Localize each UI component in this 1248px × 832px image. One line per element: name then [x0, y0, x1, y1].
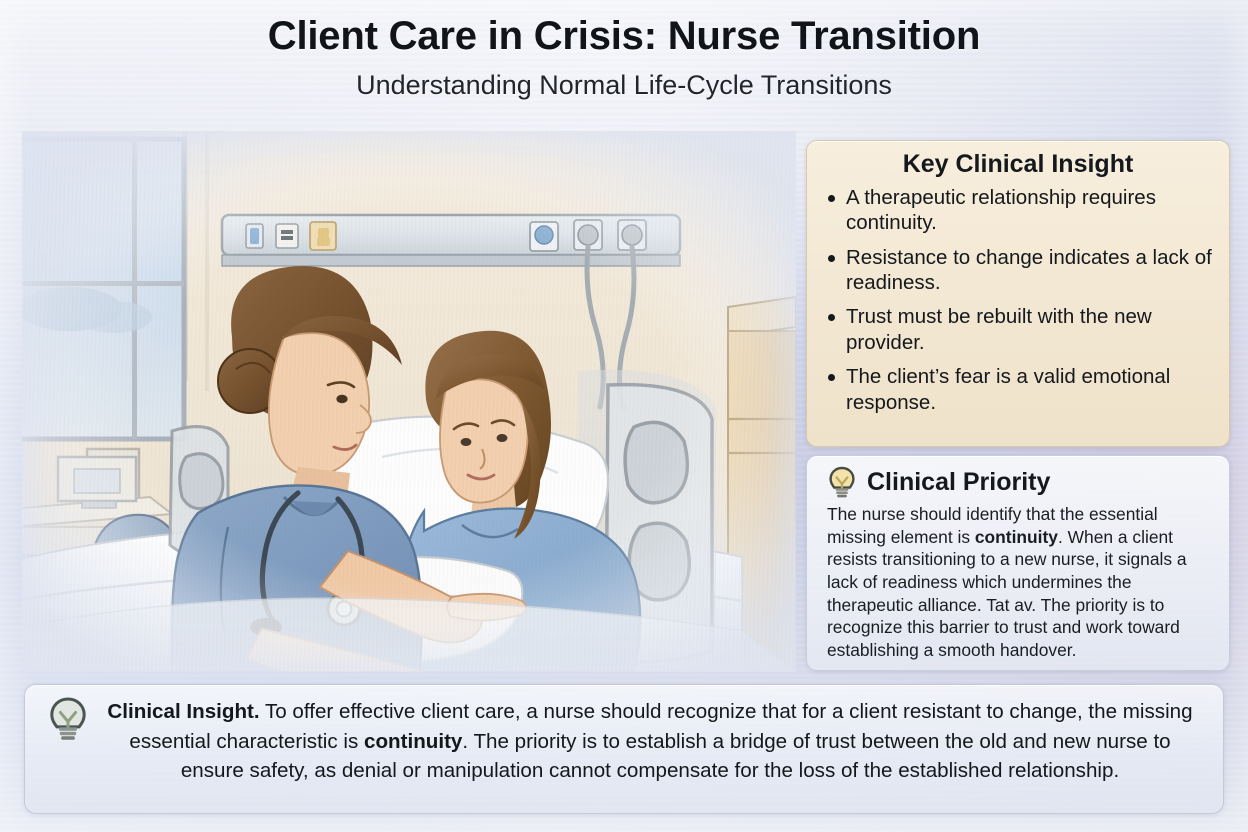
- clinical-priority-title: Clinical Priority: [867, 469, 1050, 497]
- hospital-scene-svg: [22, 131, 796, 672]
- key-clinical-insight-panel: Key Clinical Insight A therapeutic relat…: [806, 140, 1230, 447]
- page-title: Client Care in Crisis: Nurse Transition: [0, 14, 1248, 59]
- key-clinical-insight-list: A therapeutic relationship requires cont…: [821, 185, 1215, 415]
- clinical-priority-header: Clinical Priority: [827, 466, 1211, 500]
- clinical-priority-panel: Clinical Priority The nurse should ident…: [806, 455, 1230, 671]
- banner-lead: Clinical Insight.: [107, 700, 259, 723]
- clinical-insight-banner-text: Clinical Insight. To offer effective cli…: [103, 696, 1197, 786]
- page-subtitle: Understanding Normal Life-Cycle Transiti…: [0, 70, 1248, 100]
- list-item: The client’s fear is a valid emotional r…: [821, 364, 1215, 415]
- clinical-priority-body: The nurse should identify that the essen…: [827, 503, 1211, 661]
- lightbulb-icon: [47, 696, 89, 744]
- lightbulb-icon: [827, 466, 857, 500]
- key-clinical-insight-title: Key Clinical Insight: [821, 150, 1215, 179]
- priority-keyword: continuity: [975, 527, 1058, 547]
- clinical-insight-banner: Clinical Insight. To offer effective cli…: [24, 684, 1224, 814]
- list-item: Trust must be rebuilt with the new provi…: [821, 304, 1215, 355]
- poster-header: Client Care in Crisis: Nurse Transition …: [0, 14, 1248, 100]
- list-item: A therapeutic relationship requires cont…: [821, 185, 1215, 236]
- list-item: Resistance to change indicates a lack of…: [821, 245, 1215, 296]
- banner-keyword: continuity: [364, 730, 462, 753]
- hospital-room-illustration: [22, 131, 796, 672]
- infographic-poster: Client Care in Crisis: Nurse Transition …: [0, 0, 1248, 832]
